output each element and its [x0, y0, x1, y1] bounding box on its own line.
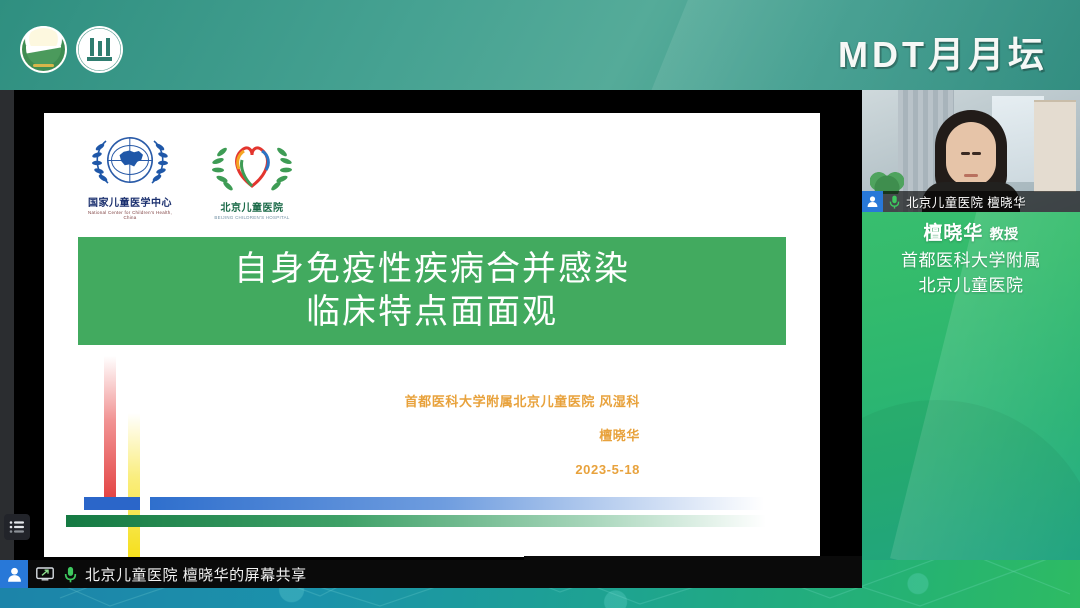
- slide-logo-group: 国家儿童医学中心 National Center for Children's …: [84, 129, 298, 220]
- leaf-wreath-icon: [206, 134, 298, 198]
- bch-logo-mark: [206, 134, 298, 198]
- person-mouth: [964, 174, 978, 177]
- right-panel: 北京儿童医院 檀晓华 檀晓华 教授 首都医科大学附属 北京儿童医院: [862, 90, 1080, 560]
- screen-share-glyph: [36, 567, 54, 581]
- speaker-name-row: 檀晓华 教授: [862, 220, 1080, 248]
- person-glyph: [866, 195, 879, 208]
- person-face: [946, 122, 996, 186]
- globe-icon: [107, 137, 153, 183]
- person-icon: [862, 191, 883, 212]
- slide-meta-affiliation: 首都医科大学附属北京儿童医院 风湿科: [405, 395, 640, 408]
- slide-title-line-1: 自身免疫性疾病合并感染: [234, 249, 630, 290]
- bch-logo-cn: 北京儿童医院: [206, 199, 298, 214]
- slide-meta-block: 首都医科大学附属北京儿童医院 风湿科 檀晓华 2023-5-18: [405, 395, 640, 476]
- top-header-band: MDT月月坛: [0, 0, 1080, 90]
- speaker-org-line-2: 北京儿童医院: [862, 273, 1080, 299]
- bch-logo-en: BEIJING CHILDREN'S HOSPITAL: [206, 215, 298, 220]
- slide-title-block: 自身免疫性疾病合并感染 临床特点面面观: [78, 237, 786, 345]
- left-toolbar-rail: [0, 90, 14, 560]
- national-center-logo-en: National Center for Children's Health, C…: [84, 210, 176, 220]
- app-root: MDT月月坛: [0, 0, 1080, 608]
- video-bg-shelf: [1034, 100, 1076, 192]
- microphone-icon[interactable]: [62, 566, 78, 583]
- slide-meta-date: 2023-5-18: [405, 463, 640, 476]
- shared-screen-stage: 国家儿童医学中心 National Center for Children's …: [0, 90, 862, 560]
- speaker-rank: 教授: [990, 226, 1019, 242]
- person-icon: [0, 560, 28, 588]
- national-center-logo: 国家儿童医学中心 National Center for Children's …: [84, 129, 176, 220]
- speaker-name: 檀晓华: [923, 223, 983, 244]
- decor-bar-blue-long: [150, 497, 764, 510]
- microphone-glyph: [64, 566, 77, 583]
- header-logo-group: [20, 26, 123, 73]
- microphone-icon: [888, 195, 901, 209]
- decor-bar-green: [66, 515, 766, 527]
- decor-bar-yellow: [128, 413, 140, 557]
- participant-video-tile[interactable]: 北京儿童医院 檀晓华: [862, 90, 1080, 212]
- list-menu-icon[interactable]: [4, 514, 30, 540]
- decor-bar-blue-short: [84, 497, 140, 510]
- presentation-slide: 国家儿童医学中心 National Center for Children's …: [44, 113, 820, 557]
- decor-bar-red: [104, 356, 116, 508]
- national-center-logo-mark: [84, 129, 176, 193]
- screen-share-status-bar: 北京儿童医院 檀晓华的屏幕共享: [0, 560, 862, 588]
- header-title: MDT月月坛: [838, 26, 1048, 78]
- screen-share-icon[interactable]: [35, 567, 55, 581]
- person-glyph: [6, 566, 23, 583]
- speaker-info-block: 檀晓华 教授 首都医科大学附属 北京儿童医院: [862, 220, 1080, 299]
- slide-meta-presenter: 檀晓华: [405, 429, 640, 442]
- person-eye-left: [972, 152, 981, 155]
- slide-title-line-2: 临床特点面面观: [306, 292, 558, 333]
- microphone-glyph: [889, 195, 900, 209]
- beijing-childrens-hospital-logo: 北京儿童医院 BEIJING CHILDREN'S HOSPITAL: [206, 134, 298, 220]
- screen-share-status-text: 北京儿童医院 檀晓华的屏幕共享: [85, 564, 307, 585]
- national-center-logo-cn: 国家儿童医学中心: [84, 194, 176, 209]
- speaker-org-line-1: 首都医科大学附属: [862, 248, 1080, 274]
- green-hospital-emblem-icon: [20, 26, 67, 73]
- person-eye-right: [961, 152, 970, 155]
- video-bg-plant: [870, 164, 904, 194]
- list-menu-glyph: [9, 520, 25, 534]
- video-participant-name: 北京儿童医院 檀晓华: [906, 192, 1026, 211]
- video-name-bar: 北京儿童医院 檀晓华: [862, 191, 1080, 212]
- white-academy-emblem-icon: [76, 26, 123, 73]
